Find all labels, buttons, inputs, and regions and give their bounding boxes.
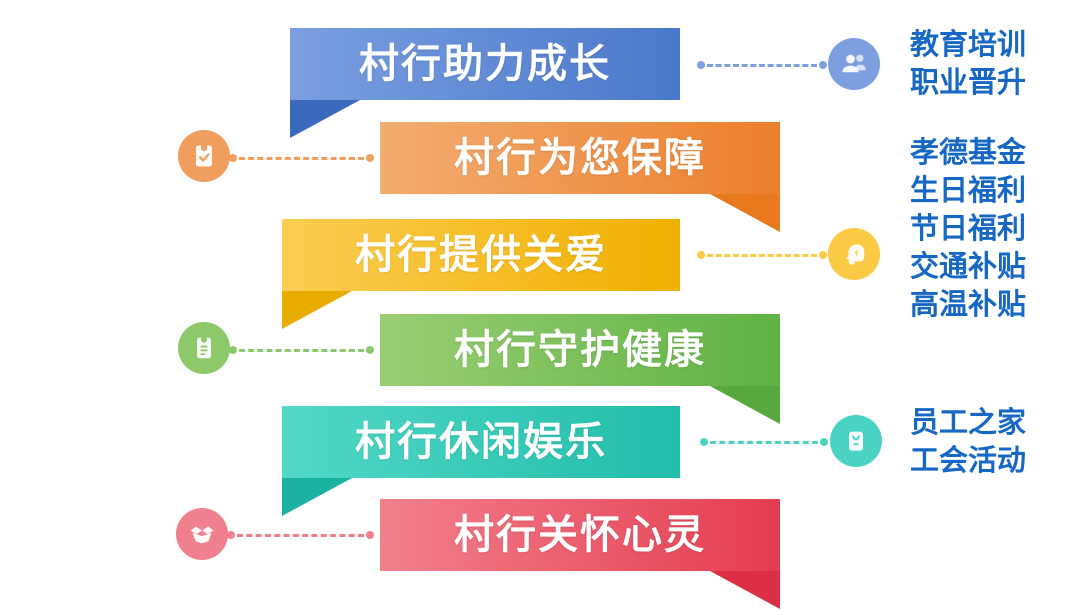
label-item: 员工之家 — [910, 404, 1026, 442]
banner-fold — [710, 386, 780, 424]
banner-leisure[interactable]: 村行休闲娱乐 — [282, 406, 680, 478]
head-idea-icon[interactable] — [828, 228, 880, 280]
connector-dot-end — [819, 61, 827, 69]
banner-mind[interactable]: 村行关怀心灵 — [380, 499, 780, 571]
connector-dash — [239, 349, 364, 352]
banner-fold — [710, 571, 780, 609]
connector-dot-end — [819, 251, 827, 259]
connector-health — [229, 343, 374, 357]
banner-fold — [290, 100, 360, 138]
banner-label: 村行守护健康 — [380, 314, 780, 386]
connector-dot-start — [229, 154, 237, 162]
banner-fold — [710, 194, 780, 232]
label-item: 工会活动 — [910, 442, 1026, 480]
banner-care[interactable]: 村行提供关爱 — [282, 219, 680, 291]
clipboard-icon[interactable] — [178, 322, 230, 374]
smile-box-icon[interactable] — [830, 415, 882, 467]
label-item: 职业晋升 — [910, 64, 1026, 102]
banner-health[interactable]: 村行守护健康 — [380, 314, 780, 386]
connector-dot-start — [229, 346, 237, 354]
connector-dot-end — [366, 154, 374, 162]
connector-mind — [227, 528, 374, 542]
label-item: 交通补贴 — [910, 248, 1026, 286]
banner-fold — [282, 291, 352, 329]
banner-label: 村行为您保障 — [380, 122, 780, 194]
connector-dot-start — [697, 61, 705, 69]
label-item: 生日福利 — [910, 172, 1026, 210]
labels-care: 孝德基金 生日福利 节日福利 交通补贴 高温补贴 — [910, 134, 1026, 324]
label-item: 高温补贴 — [910, 286, 1026, 324]
banner-label: 村行休闲娱乐 — [282, 406, 680, 478]
gift-box-icon[interactable] — [176, 508, 228, 560]
connector-dot-start — [227, 531, 235, 539]
connector-protection — [229, 151, 374, 165]
banner-growth[interactable]: 村行助力成长 — [290, 28, 680, 100]
connector-dash — [707, 254, 817, 257]
connector-dash — [710, 441, 818, 444]
label-item: 节日福利 — [910, 210, 1026, 248]
connector-dash — [239, 157, 364, 160]
connector-dash — [237, 534, 364, 537]
connector-dot-start — [700, 438, 708, 446]
users-icon[interactable] — [828, 38, 880, 90]
labels-leisure: 员工之家 工会活动 — [910, 404, 1026, 480]
labels-growth: 教育培训 职业晋升 — [910, 26, 1026, 102]
banner-label: 村行关怀心灵 — [380, 499, 780, 571]
label-item: 教育培训 — [910, 26, 1026, 64]
banner-protection[interactable]: 村行为您保障 — [380, 122, 780, 194]
banner-label: 村行助力成长 — [290, 28, 680, 100]
banner-fold — [282, 478, 352, 516]
connector-dot-end — [366, 531, 374, 539]
connector-growth — [697, 58, 827, 72]
connector-dot-end — [366, 346, 374, 354]
label-item: 孝德基金 — [910, 134, 1026, 172]
connector-dot-end — [820, 438, 828, 446]
document-check-icon[interactable] — [178, 130, 230, 182]
connector-care — [697, 248, 827, 262]
connector-leisure — [700, 435, 828, 449]
infographic-canvas: 村行助力成长 教育培训 职业晋升 村 — [0, 0, 1080, 615]
connector-dot-start — [697, 251, 705, 259]
banner-label: 村行提供关爱 — [282, 219, 680, 291]
connector-dash — [707, 64, 817, 67]
